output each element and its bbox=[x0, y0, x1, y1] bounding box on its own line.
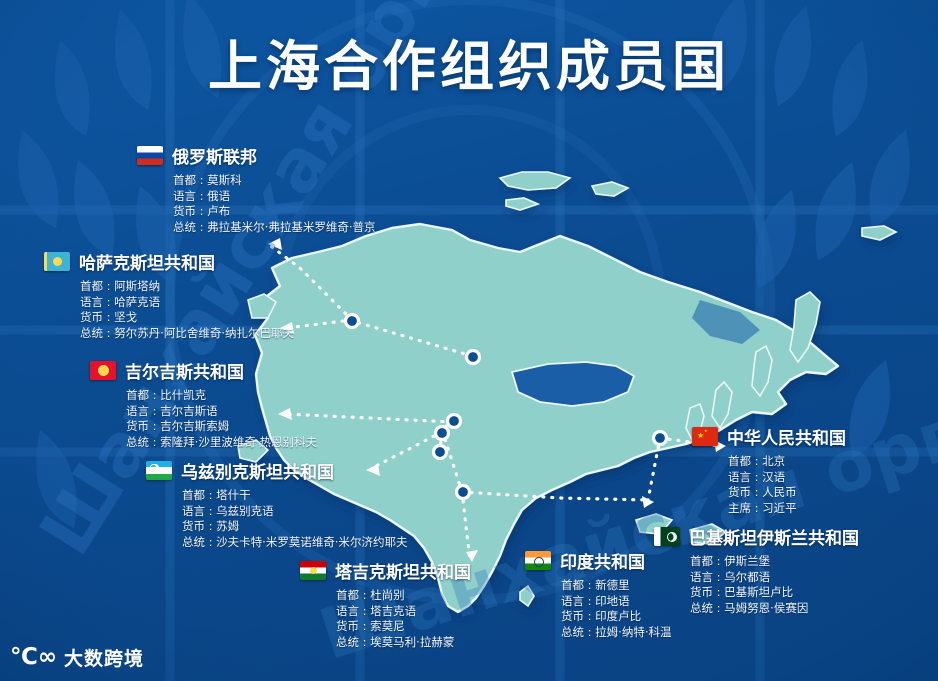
logo-text: 大数跨境 bbox=[64, 644, 144, 671]
country-card-kazakhstan[interactable]: 哈萨克斯坦共和国 首都 : 阿斯塔纳 语言 : 哈萨克语 货币 : 坚戈 总统 … bbox=[44, 249, 294, 341]
page-title: 上海合作组织成员国 bbox=[0, 22, 938, 101]
fact-capital: 首都 : 伊斯兰堡 bbox=[690, 554, 859, 570]
fact-language: 语言 : 汉语 bbox=[728, 470, 846, 486]
card-header: 印度共和国 bbox=[525, 548, 672, 573]
country-card-russia[interactable]: 俄罗斯联邦 首都 : 莫斯科 语言 : 俄语 货币 : 卢布 总统 : 弗拉基米… bbox=[137, 143, 376, 235]
country-card-kyrgyzstan[interactable]: 吉尔吉斯共和国 首都 : 比什凯克 语言 : 吉尔吉斯语 货币 : 吉尔吉斯索姆… bbox=[90, 358, 317, 450]
logo-mark-icon: ℃∞ bbox=[10, 646, 57, 669]
fact-leader: 总统 : 拉姆·纳特·科温 bbox=[561, 625, 672, 641]
fact-language: 语言 : 吉尔吉斯语 bbox=[126, 404, 317, 420]
fact-capital: 首都 : 莫斯科 bbox=[173, 173, 376, 189]
flag-india-icon bbox=[525, 551, 551, 570]
card-header: 塔吉克斯坦共和国 bbox=[300, 558, 471, 583]
fact-capital: 首都 : 杜尚别 bbox=[336, 588, 471, 604]
country-facts: 首都 : 比什凯克 语言 : 吉尔吉斯语 货币 : 吉尔吉斯索姆 总统 : 索隆… bbox=[90, 388, 317, 450]
fact-currency: 货币 : 索莫尼 bbox=[336, 619, 471, 635]
country-name: 俄罗斯联邦 bbox=[172, 143, 257, 168]
fact-language: 语言 : 塔吉克语 bbox=[336, 604, 471, 620]
flag-russia-icon bbox=[137, 146, 163, 165]
flag-pakistan-icon bbox=[654, 527, 680, 546]
flag-tajikistan-icon bbox=[300, 561, 326, 580]
card-header: 俄罗斯联邦 bbox=[137, 143, 376, 168]
country-name: 巴基斯坦伊斯兰共和国 bbox=[689, 524, 859, 549]
fact-currency: 货币 : 巴基斯坦卢比 bbox=[690, 585, 859, 601]
fact-leader: 总统 : 埃莫马利·拉赫蒙 bbox=[336, 635, 471, 651]
country-facts: 首都 : 阿斯塔纳 语言 : 哈萨克语 货币 : 坚戈 总统 : 努尔苏丹·阿比… bbox=[44, 279, 294, 341]
country-card-pakistan[interactable]: 巴基斯坦伊斯兰共和国 首都 : 伊斯兰堡 语言 : 乌尔都语 货币 : 巴基斯坦… bbox=[654, 524, 859, 616]
country-facts: 首都 : 塔什干 语言 : 乌兹别克语 货币 : 苏姆 总统 : 沙夫卡特·米罗… bbox=[146, 488, 408, 550]
fact-language: 语言 : 哈萨克语 bbox=[80, 295, 294, 311]
country-facts: 首都 : 莫斯科 语言 : 俄语 货币 : 卢布 总统 : 弗拉基米尔·弗拉基米… bbox=[137, 173, 376, 235]
country-name: 塔吉克斯坦共和国 bbox=[335, 558, 471, 583]
card-header: 哈萨克斯坦共和国 bbox=[44, 249, 294, 274]
flag-uzbekistan-icon bbox=[146, 461, 172, 480]
fact-capital: 首都 : 塔什干 bbox=[182, 488, 408, 504]
fact-leader: 总统 : 努尔苏丹·阿比舍维奇·纳扎尔巴耶夫 bbox=[80, 326, 294, 342]
country-facts: 首都 : 北京 语言 : 汉语 货币 : 人民币 主席 : 习近平 bbox=[692, 454, 846, 516]
country-card-tajikistan[interactable]: 塔吉克斯坦共和国 首都 : 杜尚别 语言 : 塔吉克语 货币 : 索莫尼 总统 … bbox=[300, 558, 471, 650]
fact-leader: 总统 : 索隆拜·沙里波维奇·热恩别科夫 bbox=[126, 435, 317, 451]
country-name: 乌兹别克斯坦共和国 bbox=[181, 458, 334, 483]
country-name: 吉尔吉斯共和国 bbox=[125, 358, 244, 383]
country-name: 哈萨克斯坦共和国 bbox=[79, 249, 215, 274]
fact-leader: 总统 : 沙夫卡特·米罗莫诺维奇·米尔济约耶夫 bbox=[182, 535, 408, 551]
fact-currency: 货币 : 坚戈 bbox=[80, 310, 294, 326]
country-name: 中华人民共和国 bbox=[727, 424, 846, 449]
country-card-india[interactable]: 印度共和国 首都 : 新德里 语言 : 印地语 货币 : 印度卢比 总统 : 拉… bbox=[525, 548, 672, 640]
country-facts: 首都 : 新德里 语言 : 印地语 货币 : 印度卢比 总统 : 拉姆·纳特·科… bbox=[525, 578, 672, 640]
flag-china-icon: ★★ bbox=[692, 427, 718, 446]
infographic-canvas: Шанхайская организация сотрудничества Ша… bbox=[0, 0, 938, 681]
fact-currency: 货币 : 吉尔吉斯索姆 bbox=[126, 419, 317, 435]
flag-kazakhstan-icon bbox=[44, 252, 70, 271]
fact-currency: 货币 : 苏姆 bbox=[182, 519, 408, 535]
fact-leader: 主席 : 习近平 bbox=[728, 501, 846, 517]
card-header: 巴基斯坦伊斯兰共和国 bbox=[654, 524, 859, 549]
card-header: ★★ 中华人民共和国 bbox=[692, 424, 846, 449]
card-header: 吉尔吉斯共和国 bbox=[90, 358, 317, 383]
country-facts: 首都 : 伊斯兰堡 语言 : 乌尔都语 货币 : 巴基斯坦卢比 总统 : 马姆努… bbox=[654, 554, 859, 616]
card-header: 乌兹别克斯坦共和国 bbox=[146, 458, 408, 483]
fact-language: 语言 : 乌尔都语 bbox=[690, 570, 859, 586]
flag-kyrgyzstan-icon bbox=[90, 361, 116, 380]
country-card-china[interactable]: ★★ 中华人民共和国 首都 : 北京 语言 : 汉语 货币 : 人民币 主席 :… bbox=[692, 424, 846, 516]
fact-capital: 首都 : 北京 bbox=[728, 454, 846, 470]
country-name: 印度共和国 bbox=[560, 548, 645, 573]
fact-language: 语言 : 乌兹别克语 bbox=[182, 504, 408, 520]
fact-language: 语言 : 俄语 bbox=[173, 189, 376, 205]
fact-capital: 首都 : 比什凯克 bbox=[126, 388, 317, 404]
fact-currency: 货币 : 人民币 bbox=[728, 485, 846, 501]
fact-currency: 货币 : 卢布 bbox=[173, 204, 376, 220]
brand-logo[interactable]: ℃∞ 大数跨境 bbox=[10, 644, 144, 671]
country-card-uzbekistan[interactable]: 乌兹别克斯坦共和国 首都 : 塔什干 语言 : 乌兹别克语 货币 : 苏姆 总统… bbox=[146, 458, 408, 550]
fact-leader: 总统 : 马姆努恩·侯赛因 bbox=[690, 601, 859, 617]
fact-leader: 总统 : 弗拉基米尔·弗拉基米罗维奇·普京 bbox=[173, 220, 376, 236]
country-facts: 首都 : 杜尚别 语言 : 塔吉克语 货币 : 索莫尼 总统 : 埃莫马利·拉赫… bbox=[300, 588, 471, 650]
fact-capital: 首都 : 阿斯塔纳 bbox=[80, 279, 294, 295]
